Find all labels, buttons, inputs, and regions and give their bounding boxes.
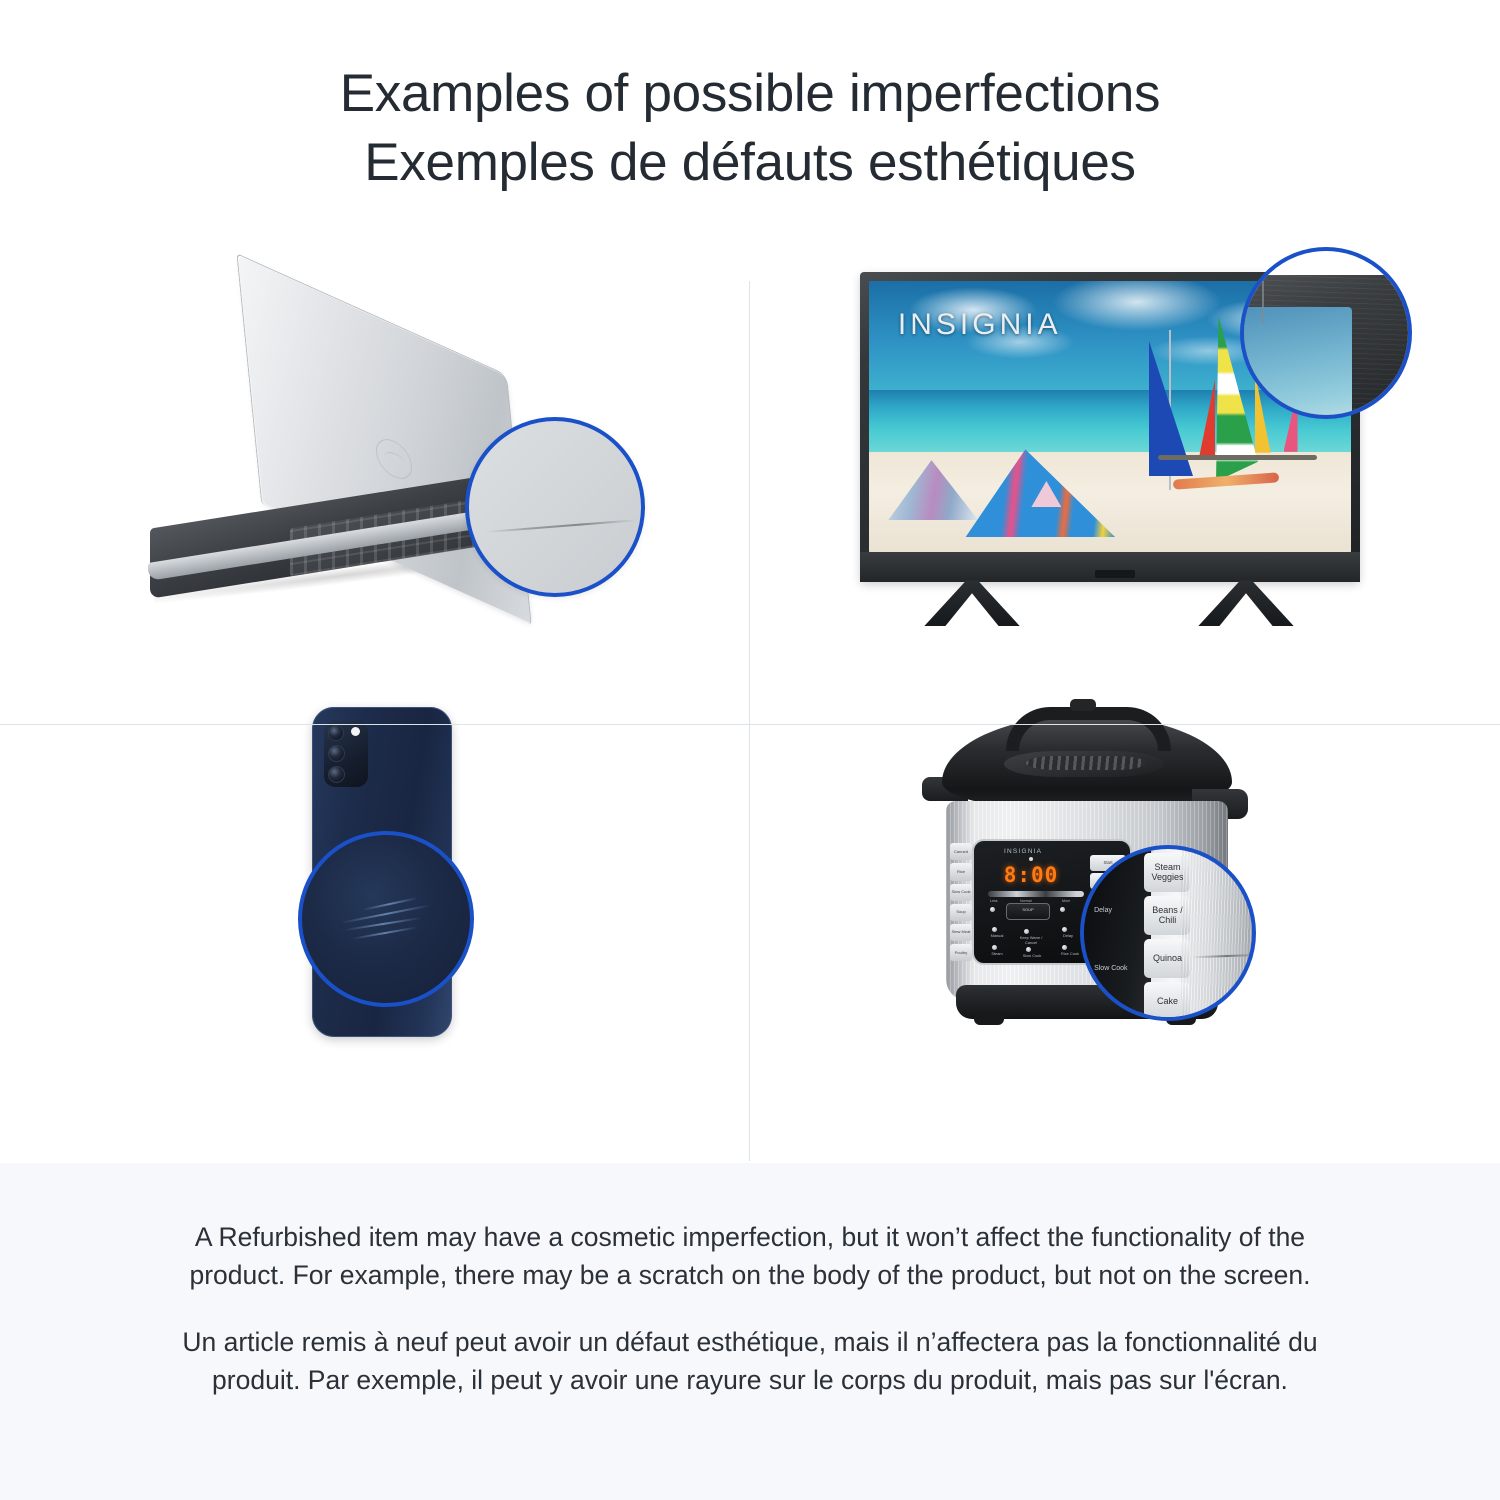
cooker-slowcook-button[interactable] [1026,947,1031,952]
scratch-mark [341,905,432,925]
cooker-left-button[interactable]: Stew Meat [950,924,972,941]
magnifier-cooker-scratch: Delay Slow Cook Steam Veggies Beans / Ch… [1080,845,1256,1021]
camera-lens-icon [328,745,345,762]
cooker-pressure-slider[interactable] [988,891,1084,897]
scratch-mark [1262,281,1264,323]
cooker-delay-button[interactable] [1062,927,1067,932]
cooker-panel-zoom [1084,849,1151,1017]
cooker-minus-button[interactable] [990,907,995,912]
cell-pressure-cooker: Canned Rice Slow Cook Soup Stew Meat Pou… [750,677,1500,1117]
tv-boat-hull [1158,455,1317,460]
grid-vertical-divider [749,281,750,1161]
tv-brand-label: INSIGNIA [898,308,1062,342]
examples-grid: INSIGNIA [0,237,1500,1117]
cooker-zoom-label: Delay [1094,907,1112,914]
footer-text-fr: Un article remis à neuf peut avoir un dé… [180,1324,1320,1399]
cooker-steam-valve-icon [1070,699,1096,711]
cooker-left-button[interactable]: Poultry [950,944,972,961]
refurbished-imperfections-infographic: Examples of possible imperfections Exemp… [0,0,1500,1500]
cooker-button-label: Rice Cook [1056,951,1084,956]
tv-ir-sensor-icon [1095,570,1135,578]
cooker-ricecook-button[interactable] [1062,945,1067,950]
cooker-lid-top [1004,751,1164,777]
cooker-zoom-label: Slow Cook [1094,965,1127,972]
scratch-mark [487,519,637,533]
cooker-left-button-column: Canned Rice Slow Cook Soup Stew Meat Pou… [950,843,972,961]
cooker-steel-texture-zoom [1181,849,1252,1017]
camera-lens-icon [328,766,345,783]
cooker-steam-button[interactable] [992,945,997,950]
cooker-left-button[interactable]: Slow Cook [950,884,972,901]
cooker-status-indicator [1029,857,1033,861]
camera-lens-icon [328,725,344,741]
cooker-button-label: Delay [1056,933,1080,938]
page-title-en: Examples of possible imperfections [0,62,1500,127]
tv-bottom-bezel [860,552,1360,582]
magnifier-phone-scratches [298,831,474,1007]
page-header: Examples of possible imperfections Exemp… [0,0,1500,195]
pressure-cooker-illustration: Canned Rice Slow Cook Soup Stew Meat Pou… [920,697,1300,1077]
cooker-left-button[interactable]: Canned [950,843,972,860]
cooker-button-label: Manual [984,933,1010,938]
cell-laptop [0,237,750,677]
magnifier-tv-scratch [1240,247,1412,419]
cooker-left-button[interactable]: Soup [950,904,972,921]
cooker-button-label: Slow Cook [1018,953,1046,958]
tv-foot-left [924,580,1020,626]
camera-module [324,721,368,787]
television-illustration: INSIGNIA [860,247,1420,627]
cooker-display: 8:00 [1000,863,1062,887]
tv-foot-right [1198,580,1294,626]
scratch-mark [352,927,417,940]
cooker-mode-label: SOUP [1007,907,1049,913]
cooker-plus-button[interactable] [1060,907,1065,912]
cooker-button-label: Steam [984,951,1010,956]
cell-smartphone [0,677,750,1117]
laptop-illustration [140,317,660,617]
cooker-keepwarm-button[interactable] [1024,929,1029,934]
cooker-lid-handle [1006,707,1171,751]
cooker-brand-label: INSIGNIA [1004,848,1042,855]
cell-television: INSIGNIA [750,237,1500,677]
footer-description: A Refurbished item may have a cosmetic i… [0,1163,1500,1500]
cooker-mode-button[interactable]: SOUP [1006,903,1050,920]
smartphone-illustration [272,707,492,1107]
cooker-slider-label: Less [990,899,998,903]
page-title-fr: Exemples de défauts esthétiques [0,131,1500,196]
cooker-slider-label: More [1062,899,1070,903]
footer-text-en: A Refurbished item may have a cosmetic i… [180,1219,1320,1294]
camera-flash-icon [351,727,360,736]
cooker-left-button[interactable]: Rice [950,863,972,880]
grid-horizontal-divider [0,724,1500,725]
magnifier-laptop-scratch [465,417,645,597]
cooker-foot [974,1015,1004,1025]
cooker-manual-button[interactable] [992,927,997,932]
cooker-slider-label: Normal [1020,899,1032,903]
tv-screen-zoom [1240,307,1352,419]
cooker-button-label: Keep Warm / Cancel [1016,935,1046,945]
